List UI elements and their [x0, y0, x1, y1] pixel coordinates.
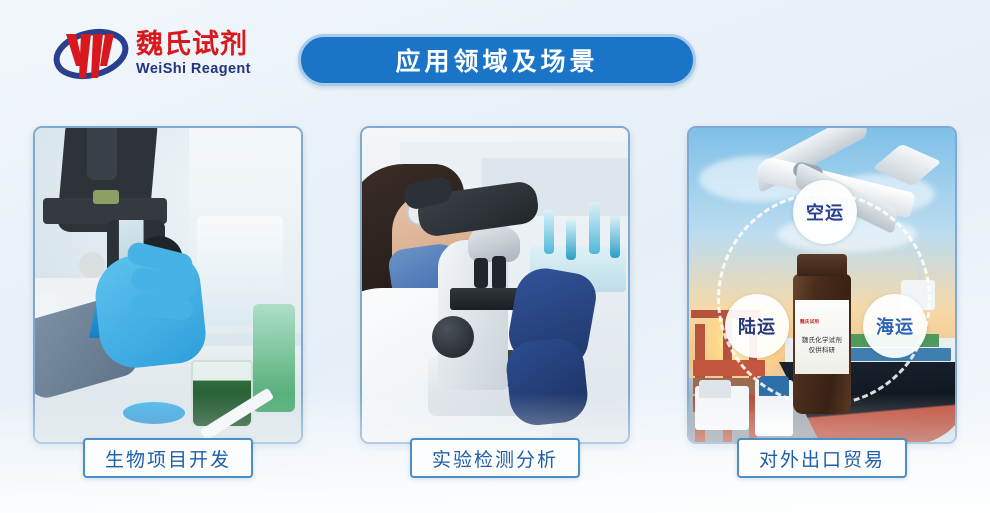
- card-label-text: 对外出口贸易: [759, 445, 885, 472]
- shipping-badge-sea-label: 海运: [876, 313, 914, 339]
- weishi-w-swoosh-icon: [52, 26, 130, 84]
- bottle-label-line2: 仅供科研: [809, 346, 836, 355]
- bottle-brand-mark: 魏氏试剂: [800, 319, 819, 325]
- card-label-text: 生物项目开发: [105, 445, 231, 472]
- shipping-badge-land: 陆运: [725, 294, 789, 358]
- card-label-text: 实验检测分析: [432, 445, 558, 472]
- card-label-bio-project-development: 生物项目开发: [83, 438, 253, 478]
- shipping-badge-land-label: 陆运: [738, 313, 776, 339]
- shipping-badge-air-label: 空运: [806, 199, 844, 225]
- card-lab-testing-analysis[interactable]: 实验检测分析: [360, 126, 630, 444]
- application-cards: 生物项目开发 实验检测分析: [0, 126, 990, 466]
- card-label-export-trade: 对外出口贸易: [737, 438, 907, 478]
- logo-name-cn: 魏氏试剂: [136, 31, 251, 59]
- card-image-bio-project-development: [33, 126, 303, 444]
- logo-name-en: WeiShi Reagent: [136, 60, 251, 79]
- page-title-banner: 应用领域及场景: [298, 34, 696, 86]
- card-image-export-trade: 魏氏试剂 魏氏化学试剂 仅供科研 空运 陆运 海运: [687, 126, 957, 444]
- card-bio-project-development[interactable]: 生物项目开发: [33, 126, 303, 444]
- bottle-label-line1: 魏氏化学试剂: [802, 336, 842, 345]
- page-title: 应用领域及场景: [395, 42, 598, 78]
- shipping-badge-sea: 海运: [863, 294, 927, 358]
- reagent-bottle-icon: 魏氏试剂 魏氏化学试剂 仅供科研: [791, 254, 853, 414]
- card-image-lab-testing-analysis: [360, 126, 630, 444]
- card-export-trade[interactable]: 魏氏试剂 魏氏化学试剂 仅供科研 空运 陆运 海运 对外出口贸易: [687, 126, 957, 444]
- page-header: 魏氏试剂 WeiShi Reagent 应用领域及场景: [0, 0, 990, 115]
- card-label-lab-testing-analysis: 实验检测分析: [410, 438, 580, 478]
- shipping-badge-air: 空运: [793, 180, 857, 244]
- brand-logo[interactable]: 魏氏试剂 WeiShi Reagent: [52, 24, 262, 86]
